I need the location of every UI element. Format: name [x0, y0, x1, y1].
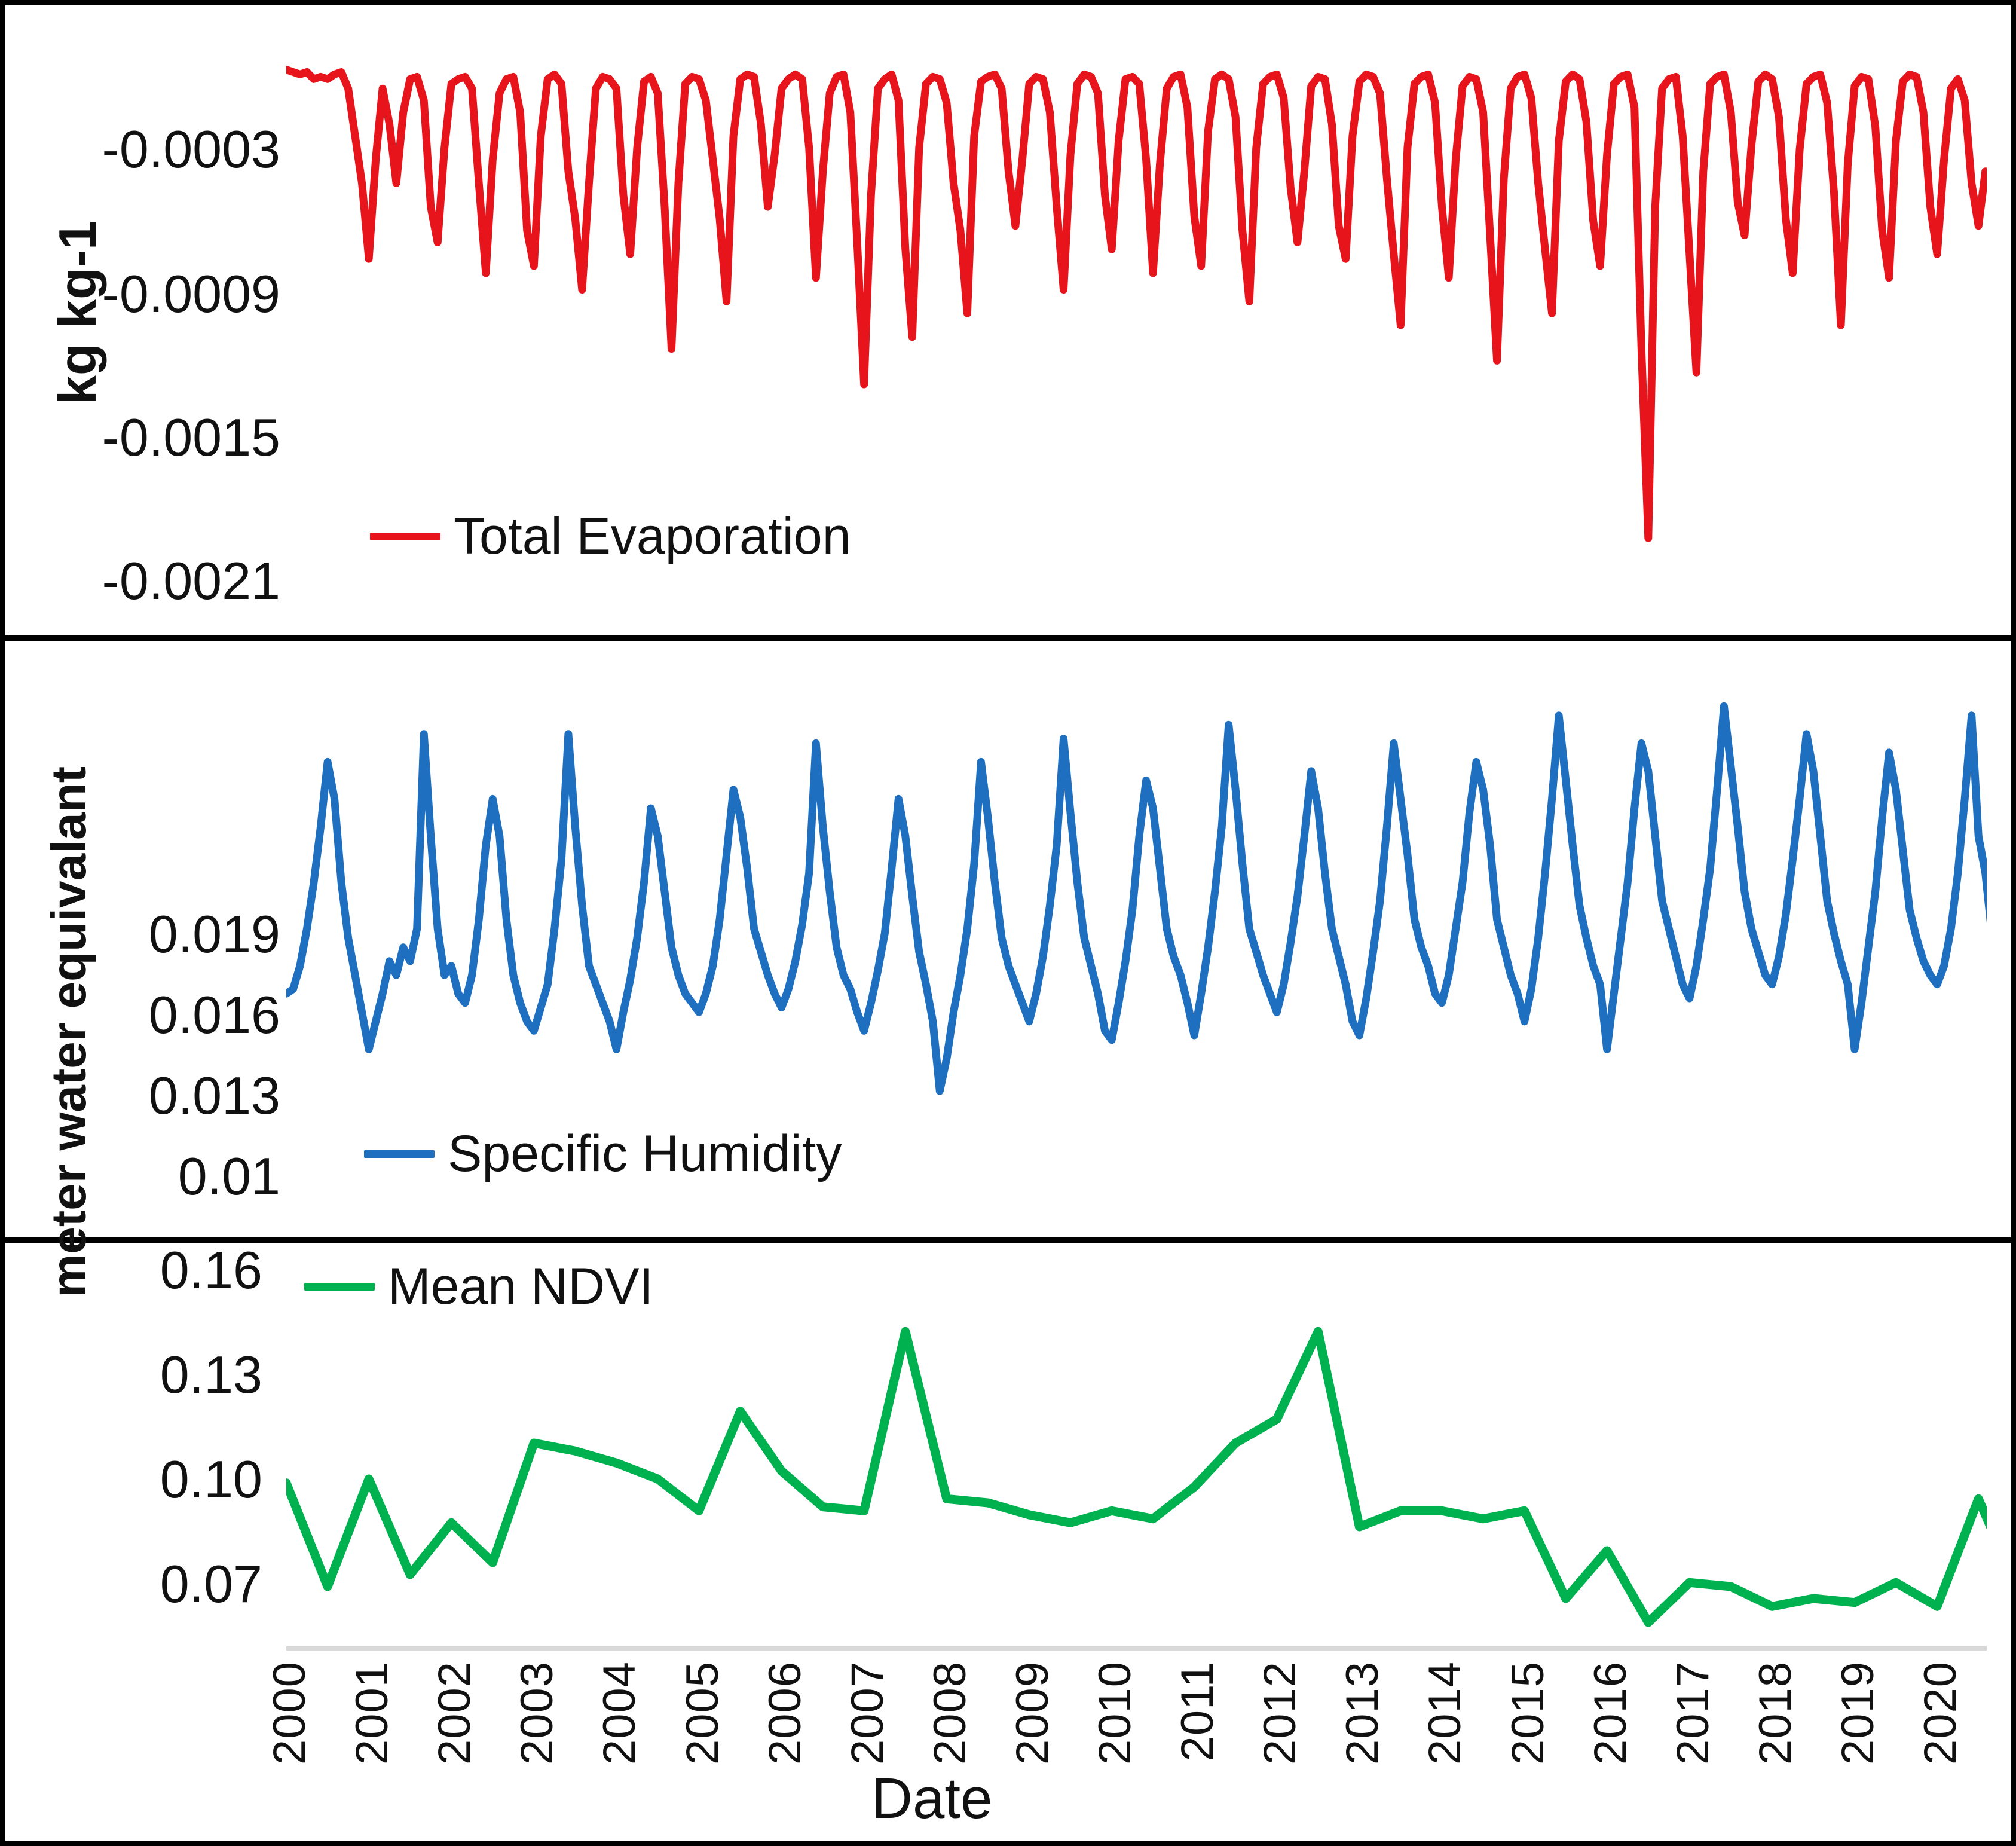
x-tick-2014: 2014 — [1419, 1661, 1471, 1765]
x-axis-title: Date — [752, 1766, 1111, 1832]
x-tick-2004: 2004 — [594, 1661, 646, 1765]
x-tick-2002: 2002 — [429, 1661, 481, 1765]
y-tick-ndvi-2: 0.10 — [65, 1449, 262, 1510]
x-tick-2006: 2006 — [759, 1661, 811, 1765]
y-tick-ndvi-1: 0.13 — [65, 1344, 262, 1405]
legend-swatch-ndvi — [304, 1283, 375, 1291]
x-tick-2015: 2015 — [1502, 1661, 1554, 1765]
legend-specific-humidity: Specific Humidity — [364, 1128, 842, 1179]
x-tick-2013: 2013 — [1336, 1661, 1388, 1765]
x-tick-2020: 2020 — [1914, 1661, 1966, 1765]
y-tick-humidity-0: 0.019 — [41, 904, 280, 965]
y-tick-ndvi-0: 0.16 — [65, 1240, 262, 1301]
legend-label-humidity: Specific Humidity — [448, 1128, 842, 1179]
legend-label-evaporation: Total Evaporation — [454, 511, 851, 562]
panel-total-evaporation: kg kg-1 -0.0003 -0.0009 -0.0015 -0.0021 … — [5, 5, 2011, 641]
y-tick-evaporation-2: -0.0015 — [47, 407, 280, 468]
y-tick-evaporation-3: -0.0021 — [47, 551, 280, 612]
x-tick-2001: 2001 — [346, 1661, 398, 1765]
x-tick-2009: 2009 — [1007, 1661, 1059, 1765]
x-tick-2019: 2019 — [1832, 1661, 1884, 1765]
y-tick-humidity-3: 0.01 — [41, 1146, 280, 1207]
x-tick-2016: 2016 — [1584, 1661, 1636, 1765]
ndvi-x-axis-line — [286, 1646, 1987, 1651]
x-tick-2007: 2007 — [842, 1661, 894, 1765]
y-tick-evaporation-0: -0.0003 — [47, 119, 280, 180]
humidity-line-plot — [286, 674, 1987, 1170]
ndvi-line-plot — [286, 1264, 1987, 1646]
legend-total-evaporation: Total Evaporation — [370, 511, 851, 562]
x-tick-2010: 2010 — [1089, 1661, 1141, 1765]
panel-mean-ndvi: 0.16 0.13 0.10 0.07 Mean NDVI 2000200120… — [5, 1243, 2011, 1841]
panel-specific-humidity: meter water equivalant 0.019 0.016 0.013… — [5, 641, 2011, 1243]
x-tick-2005: 2005 — [677, 1661, 729, 1765]
y-tick-ndvi-3: 0.07 — [65, 1554, 262, 1615]
x-tick-2018: 2018 — [1749, 1661, 1801, 1765]
legend-mean-ndvi: Mean NDVI — [304, 1261, 654, 1312]
x-tick-2008: 2008 — [924, 1661, 976, 1765]
y-tick-evaporation-1: -0.0009 — [47, 264, 280, 325]
y-tick-humidity-1: 0.016 — [41, 985, 280, 1046]
figure-root: kg kg-1 -0.0003 -0.0009 -0.0015 -0.0021 … — [0, 0, 2016, 1846]
x-tick-2000: 2000 — [264, 1661, 316, 1765]
x-tick-2003: 2003 — [511, 1661, 563, 1765]
x-tick-2011: 2011 — [1171, 1661, 1223, 1761]
legend-swatch-evaporation — [370, 533, 440, 540]
legend-swatch-humidity — [364, 1150, 435, 1158]
x-tick-2012: 2012 — [1254, 1661, 1306, 1765]
legend-label-ndvi: Mean NDVI — [388, 1261, 654, 1312]
x-tick-2017: 2017 — [1667, 1661, 1719, 1765]
y-tick-humidity-2: 0.013 — [41, 1065, 280, 1126]
